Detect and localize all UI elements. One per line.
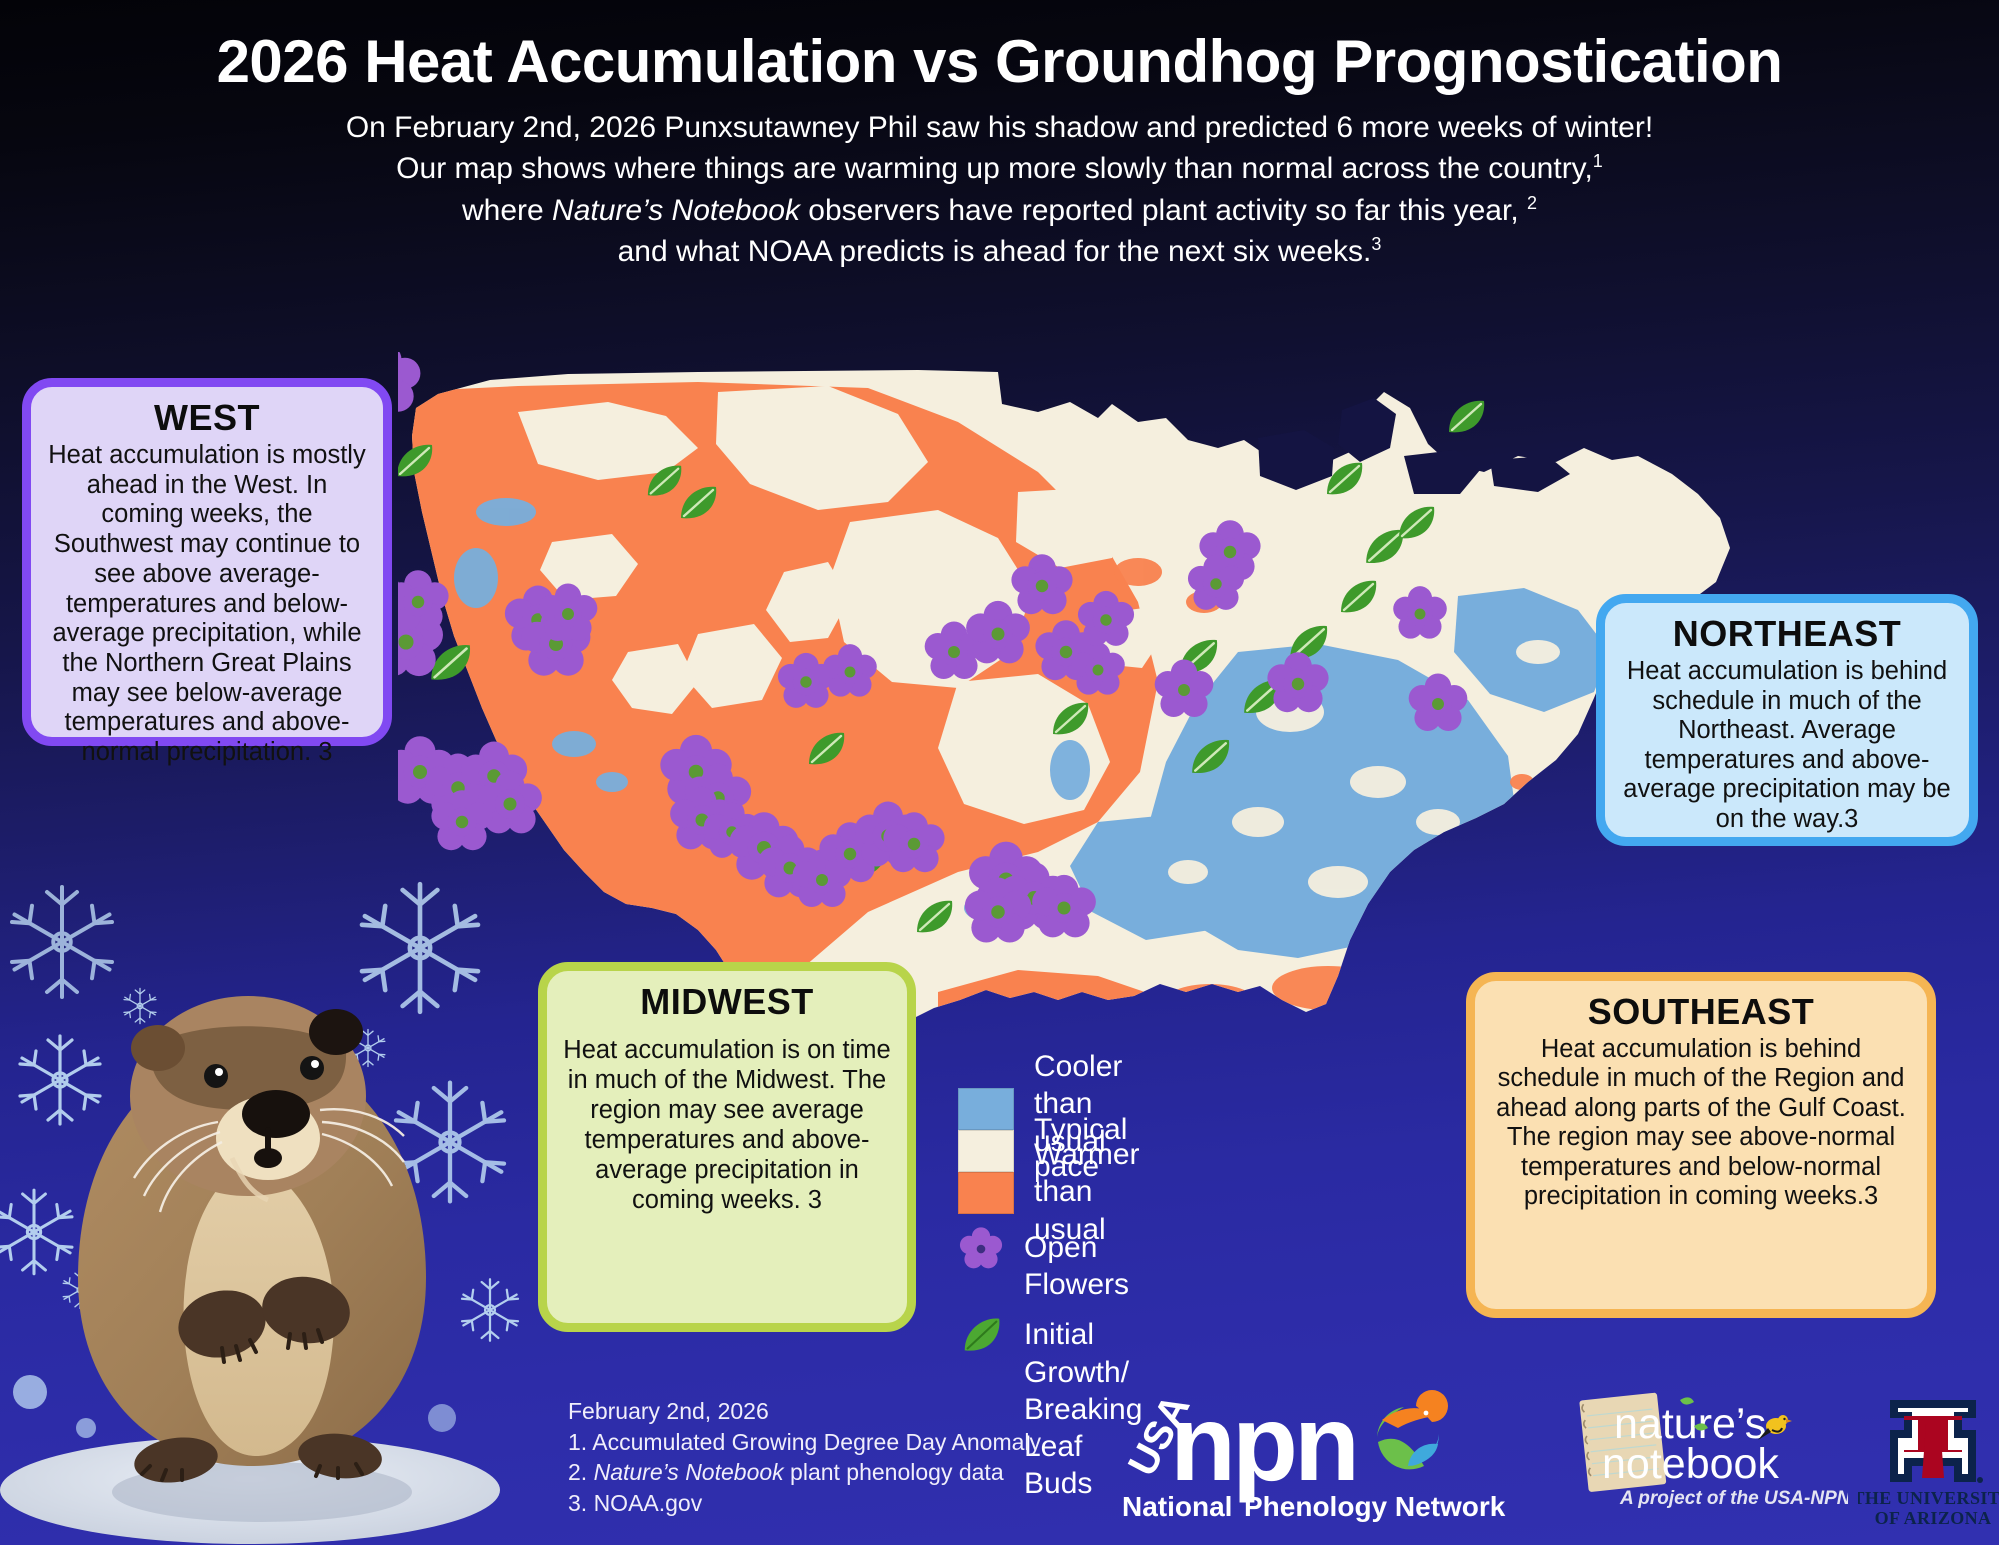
npn-phenology-text: Phenology Network	[1244, 1491, 1506, 1522]
nn-tagline-text: A project of the USA-NPN	[1619, 1488, 1848, 1509]
ua-line1-text: THE UNIVERSITY	[1858, 1488, 1999, 1508]
subtitle-line-3-pre: where	[462, 194, 552, 227]
callout-midwest-title: MIDWEST	[561, 981, 893, 1023]
subtitle-line-1: On February 2nd, 2026 Punxsutawney Phil …	[0, 107, 1999, 148]
subtitle-line-4-text: and what NOAA predicts is ahead for the …	[618, 235, 1372, 268]
eye-right	[300, 1056, 324, 1080]
subtitle-line-3: where Nature’s Notebook observers have r…	[0, 190, 1999, 231]
callout-southeast-title: SOUTHEAST	[1489, 991, 1913, 1033]
university-of-arizona-logo: THE UNIVERSITY OF ARIZONA	[1858, 1384, 1999, 1534]
logo-bar: USA npn National Phenology Network	[1118, 1382, 1988, 1532]
footnote-1: 1. Accumulated Growing Degree Day Anomal…	[568, 1427, 1041, 1458]
nose	[242, 1090, 310, 1138]
callout-west: WEST Heat accumulation is mostly ahead i…	[22, 378, 392, 746]
leaf-icon	[958, 1313, 1004, 1359]
eye-left	[204, 1064, 228, 1088]
usa-npn-logo: USA npn National Phenology Network	[1118, 1388, 1518, 1533]
callout-northeast: NORTHEAST Heat accumulation is behind sc…	[1596, 594, 1978, 846]
natures-notebook-logo: nature’s notebook A project of the USA-N…	[1578, 1382, 1848, 1527]
callout-southeast: SOUTHEAST Heat accumulation is behind sc…	[1466, 972, 1936, 1318]
callout-midwest: MIDWEST Heat accumulation is on time in …	[538, 962, 916, 1332]
flower-icon	[958, 1226, 1004, 1272]
npn-emblem	[1375, 1390, 1448, 1469]
infographic-poster: 2026 Heat Accumulation vs Groundhog Prog…	[0, 0, 1999, 1545]
natures-notebook-mention: Nature’s Notebook	[552, 194, 800, 227]
subtitle-block: On February 2nd, 2026 Punxsutawney Phil …	[0, 93, 1999, 273]
npn-wordmark: npn	[1170, 1388, 1356, 1503]
footnotes: February 2nd, 2026 1. Accumulated Growin…	[568, 1396, 1041, 1518]
ear-right	[309, 1009, 363, 1055]
callout-west-body: Heat accumulation is mostly ahead in the…	[45, 441, 369, 768]
groundhog-illustration	[0, 900, 520, 1545]
legend-swatches	[958, 1088, 1014, 1214]
legend-label-flowers: Open Flowers	[1024, 1229, 1152, 1303]
callout-northeast-title: NORTHEAST	[1619, 613, 1955, 655]
subtitle-line-4: and what NOAA predicts is ahead for the …	[0, 231, 1999, 272]
legend-swatch-typical	[958, 1130, 1014, 1172]
subtitle-line-3-post: observers have reported plant activity s…	[800, 194, 1527, 227]
footnote-2-num: 2.	[568, 1459, 594, 1485]
ua-line2-text: OF ARIZONA	[1875, 1508, 1992, 1528]
legend-row-flowers: Open Flowers	[958, 1226, 1152, 1303]
ua-block-a-icon	[1890, 1400, 1983, 1483]
footnote-ref-3: 3	[1371, 234, 1381, 254]
footnote-2: 2. Nature’s Notebook plant phenology dat…	[568, 1457, 1041, 1488]
subtitle-line-2: Our map shows where things are warming u…	[0, 148, 1999, 189]
nn-line2-text: notebook	[1602, 1440, 1779, 1488]
mouth	[254, 1148, 282, 1168]
legend-swatch-cooler	[958, 1088, 1014, 1130]
footnote-date: February 2nd, 2026	[568, 1396, 1041, 1427]
legend-color-labels: Cooler than usual Typical pace Warmer th…	[1034, 1082, 1140, 1214]
header: 2026 Heat Accumulation vs Groundhog Prog…	[0, 0, 1999, 273]
callout-midwest-body: Heat accumulation is on time in much of …	[561, 1035, 893, 1215]
callout-west-title: WEST	[45, 397, 369, 439]
ear-left	[131, 1025, 185, 1071]
page-title: 2026 Heat Accumulation vs Groundhog Prog…	[0, 0, 1999, 93]
npn-national-text: National	[1122, 1491, 1232, 1522]
callout-northeast-body: Heat accumulation is behind schedule in …	[1619, 657, 1955, 834]
footnote-2-rest: plant phenology data	[784, 1459, 1004, 1485]
footnote-3: 3. NOAA.gov	[568, 1488, 1041, 1519]
callout-southeast-body: Heat accumulation is behind schedule in …	[1489, 1035, 1913, 1212]
footnote-2-title: Nature’s Notebook	[594, 1459, 784, 1485]
legend-swatch-warmer	[958, 1172, 1014, 1214]
footnote-ref-2: 2	[1527, 193, 1537, 213]
footnote-ref-1: 1	[1593, 151, 1603, 171]
subtitle-line-2-text: Our map shows where things are warming u…	[396, 152, 1593, 185]
